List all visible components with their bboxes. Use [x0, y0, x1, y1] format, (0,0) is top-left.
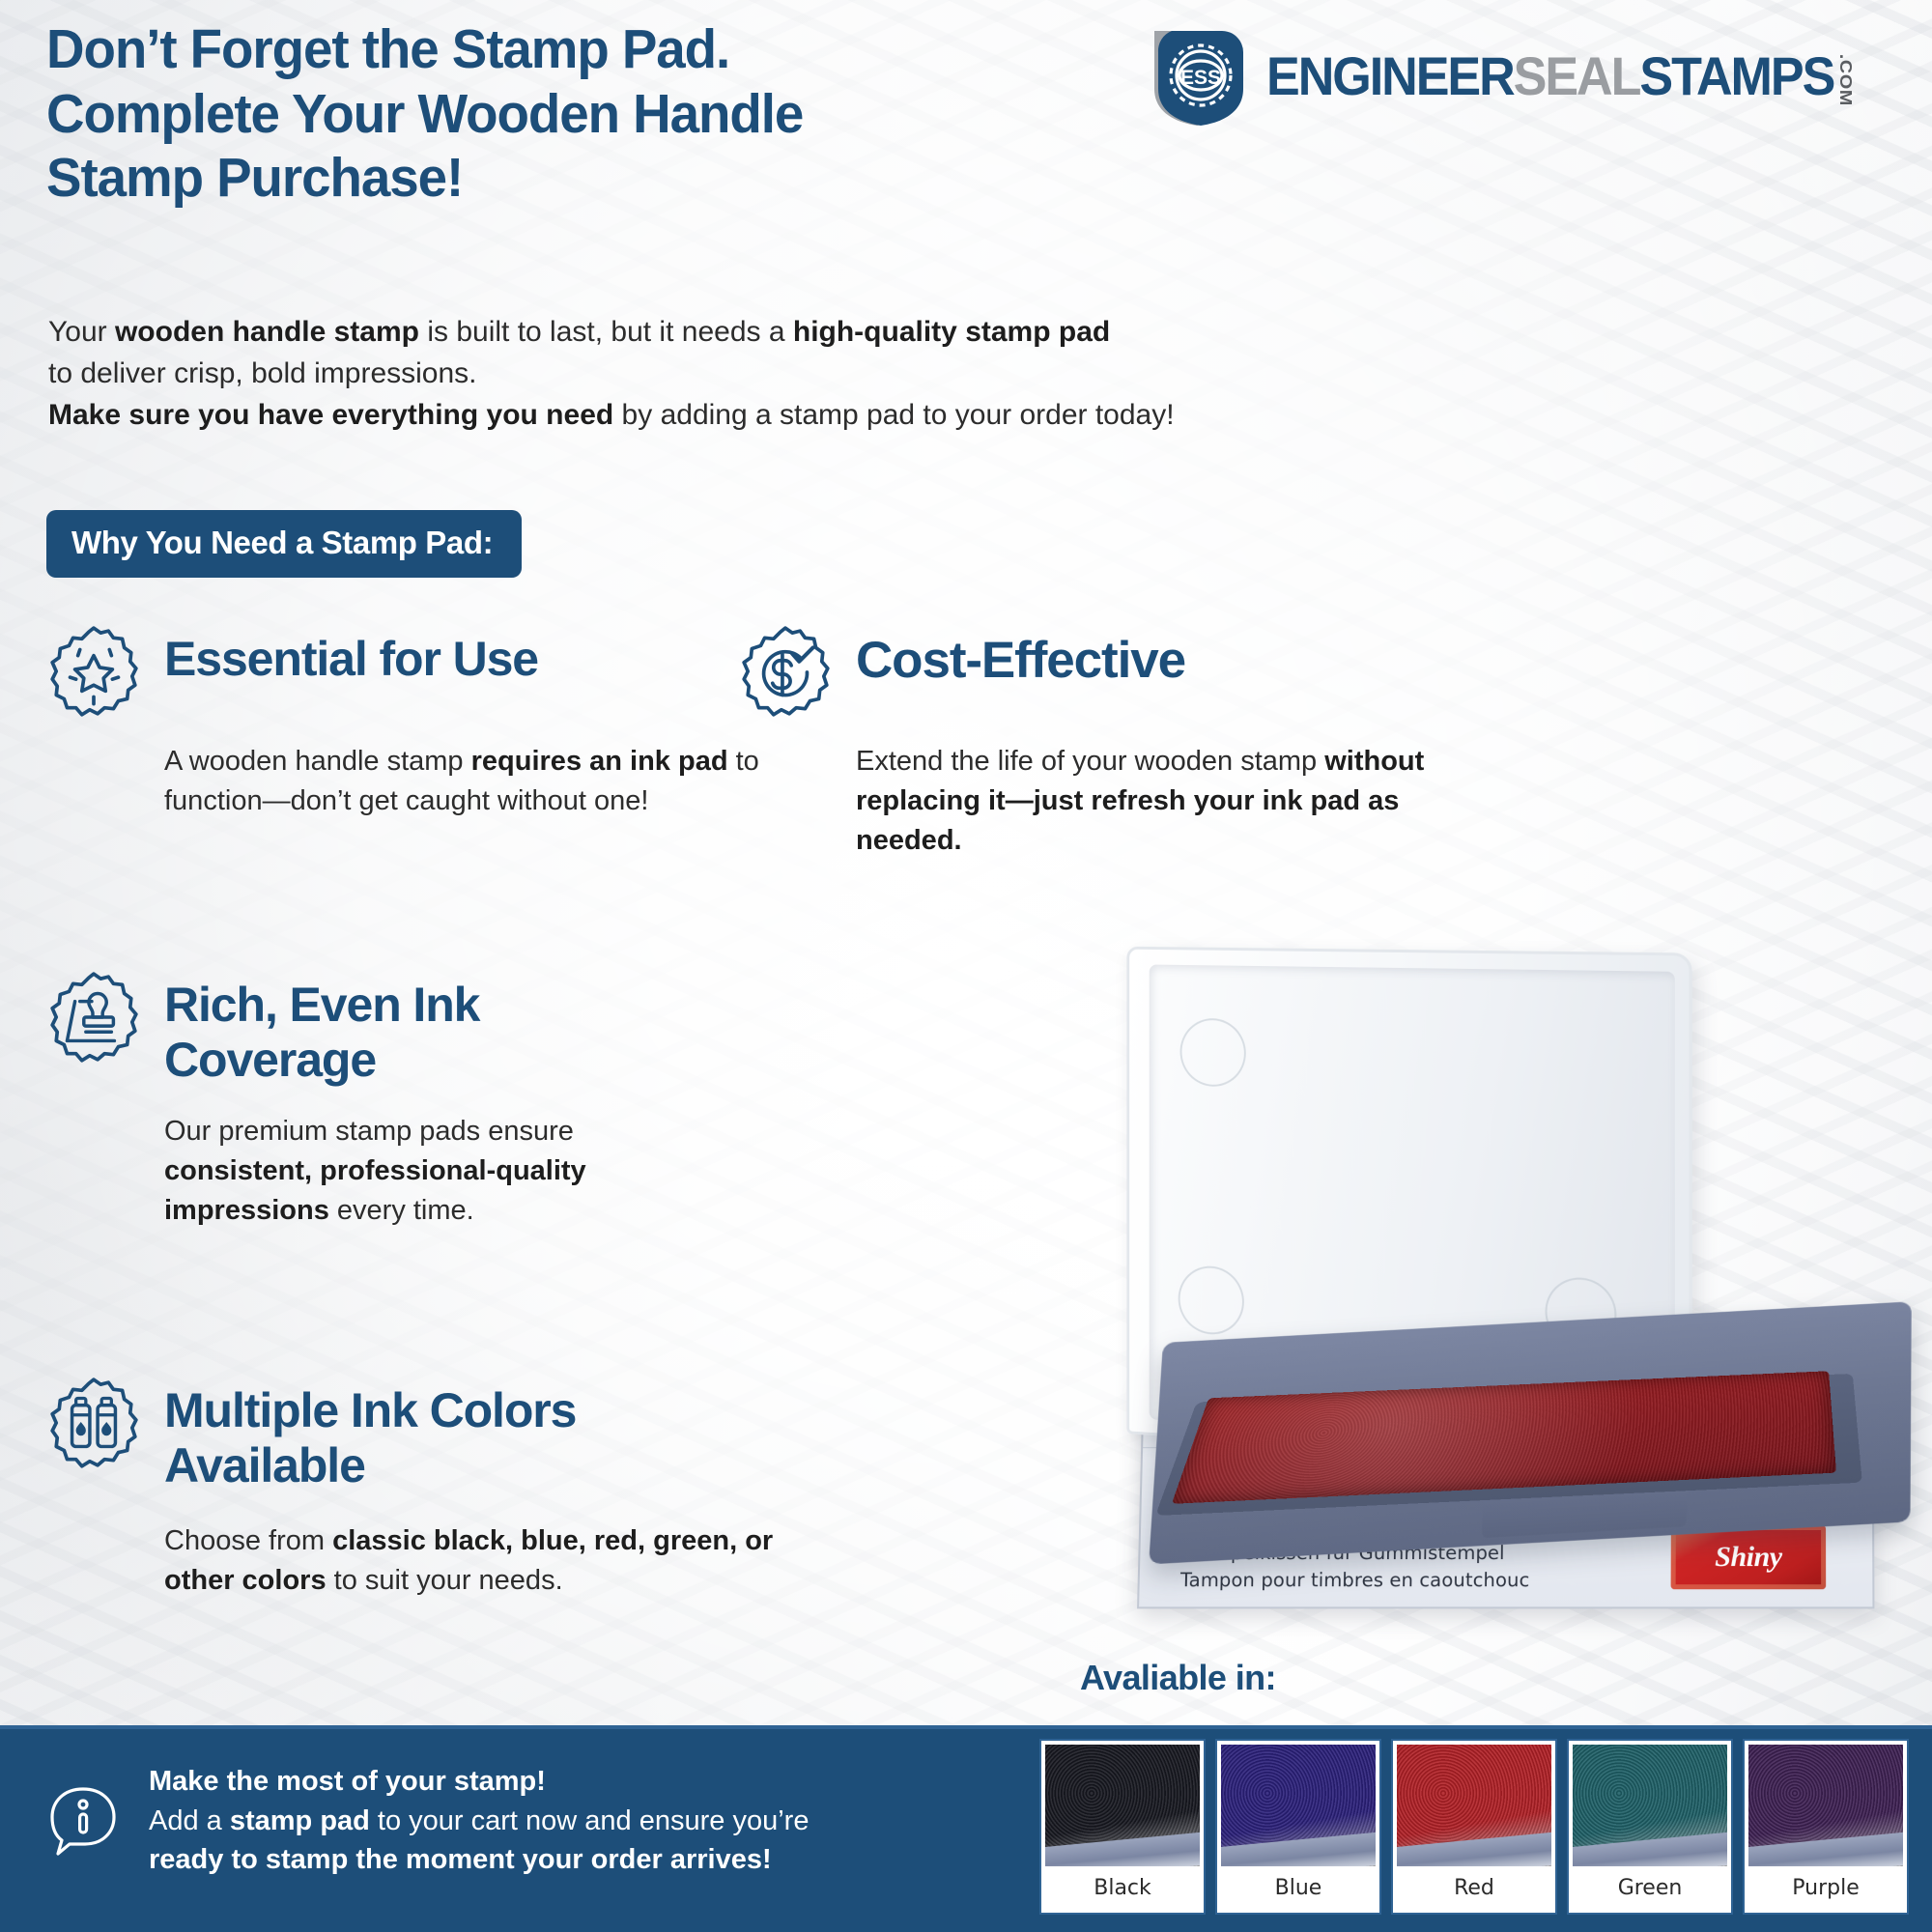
dollar-check-badge-icon [736, 624, 835, 723]
ink-bottles-badge-icon [44, 1376, 143, 1474]
logo-word-engineer: ENGINEER [1266, 49, 1514, 103]
swatch-label: Purple [1748, 1866, 1903, 1909]
logo-word-stamps: STAMPS [1639, 49, 1833, 103]
feature-cost-effective: Cost-Effective Extend the life of your w… [736, 620, 1509, 862]
feature-header: Rich, Even Ink Coverage [44, 966, 663, 1087]
star-badge-icon [44, 624, 143, 723]
infographic-page: Don’t Forget the Stamp Pad. Complete You… [0, 0, 1932, 1932]
rubber-stamp-badge-icon [44, 970, 143, 1068]
cta-line-2: Add a stamp pad to your cart now and ens… [149, 1802, 809, 1841]
swatch-label: Black [1045, 1866, 1200, 1909]
swatch-image [1045, 1745, 1200, 1866]
feature-multiple-ink-colors: Multiple Ink Colors Available Choose fro… [44, 1372, 759, 1601]
headline-line-2: Complete Your Wooden Handle [46, 82, 1030, 147]
product-photo-stamp-pad: Stamp pad for rubber stamps Almohadilla … [1082, 952, 1932, 1647]
swatch-green[interactable]: Green [1569, 1741, 1731, 1913]
cta-line-3: ready to stamp the moment your order arr… [149, 1840, 809, 1880]
intro-line-2: to deliver crisp, bold impressions. [48, 353, 1401, 394]
logo-wordmark: ENGINEER SEAL STAMPS .COM [1266, 49, 1854, 105]
lid-dimple-icon [1179, 1264, 1244, 1336]
feature-body: Choose from classic black, blue, red, gr… [164, 1521, 802, 1601]
logo-monogram: ESS [1180, 67, 1221, 89]
bottom-cta-text: Make the most of your stamp! Add a stamp… [149, 1762, 809, 1880]
feature-body: A wooden handle stamp requires an ink pa… [164, 742, 763, 821]
shiny-brand-text: Shiny [1715, 1541, 1781, 1574]
feature-header: Cost-Effective [736, 620, 1509, 723]
swatch-label: Blue [1221, 1866, 1376, 1909]
logo-word-dotcom: .COM [1836, 54, 1854, 106]
feature-title: Cost-Effective [856, 620, 1185, 690]
swatch-label: Red [1397, 1866, 1551, 1909]
shield-gear-icon: ESS [1143, 27, 1257, 128]
ink-color-swatches: Black Blue Red Green Purple [1041, 1741, 1907, 1913]
feature-body: Our premium stamp pads ensure consistent… [164, 1112, 705, 1232]
feature-rich-even-ink-coverage: Rich, Even Ink Coverage Our premium stam… [44, 966, 663, 1232]
headline-line-1: Don’t Forget the Stamp Pad. [46, 17, 1030, 82]
swatch-image [1573, 1745, 1727, 1866]
swatch-red[interactable]: Red [1393, 1741, 1555, 1913]
feature-essential-for-use: Essential for Use A wooden handle stamp … [44, 620, 779, 821]
box-line-fr: Tampon pour timbres en caoutchouc [1180, 1567, 1530, 1593]
feature-header: Essential for Use [44, 620, 779, 723]
swatch-blue[interactable]: Blue [1217, 1741, 1379, 1913]
headline-line-3: Stamp Purchase! [46, 146, 1030, 211]
header: Don’t Forget the Stamp Pad. Complete You… [46, 17, 1891, 211]
cta-line-1: Make the most of your stamp! [149, 1762, 809, 1802]
logo-word-seal: SEAL [1513, 49, 1639, 103]
info-speech-bubble-icon [46, 1784, 120, 1858]
feature-title: Essential for Use [164, 620, 538, 687]
swatch-label: Green [1573, 1866, 1727, 1909]
swatch-image [1221, 1745, 1376, 1866]
feature-title: Multiple Ink Colors Available [164, 1372, 724, 1492]
lid-dimple-icon [1180, 1018, 1246, 1088]
intro-line-3: Make sure you have everything you need b… [48, 394, 1401, 436]
feature-title: Rich, Even Ink Coverage [164, 966, 589, 1087]
swatch-purple[interactable]: Purple [1745, 1741, 1907, 1913]
intro-line-1: Your wooden handle stamp is built to las… [48, 311, 1401, 353]
brand-logo[interactable]: ESS ENGINEER SEAL STAMPS .COM [1143, 27, 1897, 128]
page-title: Don’t Forget the Stamp Pad. Complete You… [46, 17, 1030, 211]
feature-header: Multiple Ink Colors Available [44, 1372, 759, 1492]
intro-paragraph: Your wooden handle stamp is built to las… [48, 311, 1401, 437]
swatch-black[interactable]: Black [1041, 1741, 1204, 1913]
feature-body: Extend the life of your wooden stamp wit… [856, 742, 1513, 862]
bottom-cta-content: Make the most of your stamp! Add a stamp… [46, 1762, 809, 1880]
shiny-brand-logo: Shiny [1671, 1525, 1827, 1589]
available-in-label: Avaliable in: [1080, 1658, 1276, 1698]
why-you-need-banner: Why You Need a Stamp Pad: [46, 510, 522, 578]
swatch-image [1397, 1745, 1551, 1866]
swatch-image [1748, 1745, 1903, 1866]
